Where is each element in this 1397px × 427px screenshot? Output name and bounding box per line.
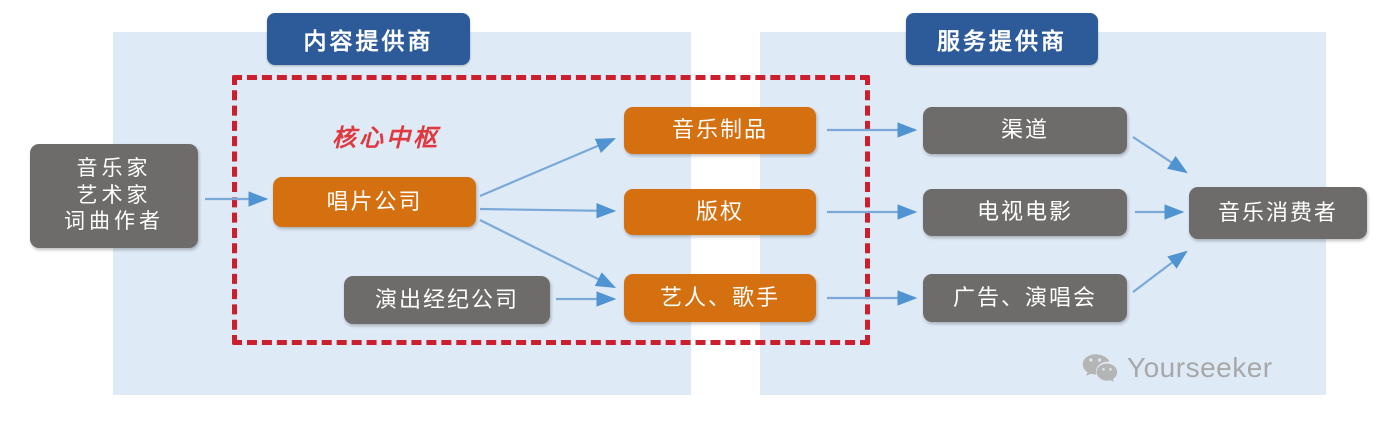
watermark-text: Yourseeker — [1127, 352, 1273, 384]
header-tag-service-provider: 服务提供商 — [906, 13, 1098, 65]
node-artists-singers: 艺人、歌手 — [624, 274, 816, 322]
node-copyright: 版权 — [624, 189, 816, 235]
node-channel: 渠道 — [923, 107, 1127, 154]
node-creators-line3: 词曲作者 — [64, 209, 164, 236]
wechat-icon — [1082, 353, 1118, 383]
node-creators: 音乐家 艺术家 词曲作者 — [30, 144, 198, 248]
node-music-products: 音乐制品 — [624, 107, 816, 154]
watermark: Yourseeker — [1082, 352, 1273, 384]
core-hub-annotation: 核心中枢 — [332, 118, 440, 153]
node-record-company: 唱片公司 — [273, 177, 476, 227]
diagram-canvas: 内容提供商 服务提供商 核心中枢 音乐家 艺术家 词曲作者 唱片公司 演出经 — [0, 0, 1397, 427]
node-creators-line1: 音乐家 — [77, 156, 152, 183]
node-music-consumers: 音乐消费者 — [1189, 187, 1367, 239]
node-tv-film: 电视电影 — [923, 189, 1127, 236]
node-performance-agency: 演出经纪公司 — [344, 276, 550, 324]
header-tag-content-provider: 内容提供商 — [267, 13, 470, 65]
node-creators-line2: 艺术家 — [77, 183, 152, 210]
node-ads-concerts: 广告、演唱会 — [923, 274, 1127, 322]
